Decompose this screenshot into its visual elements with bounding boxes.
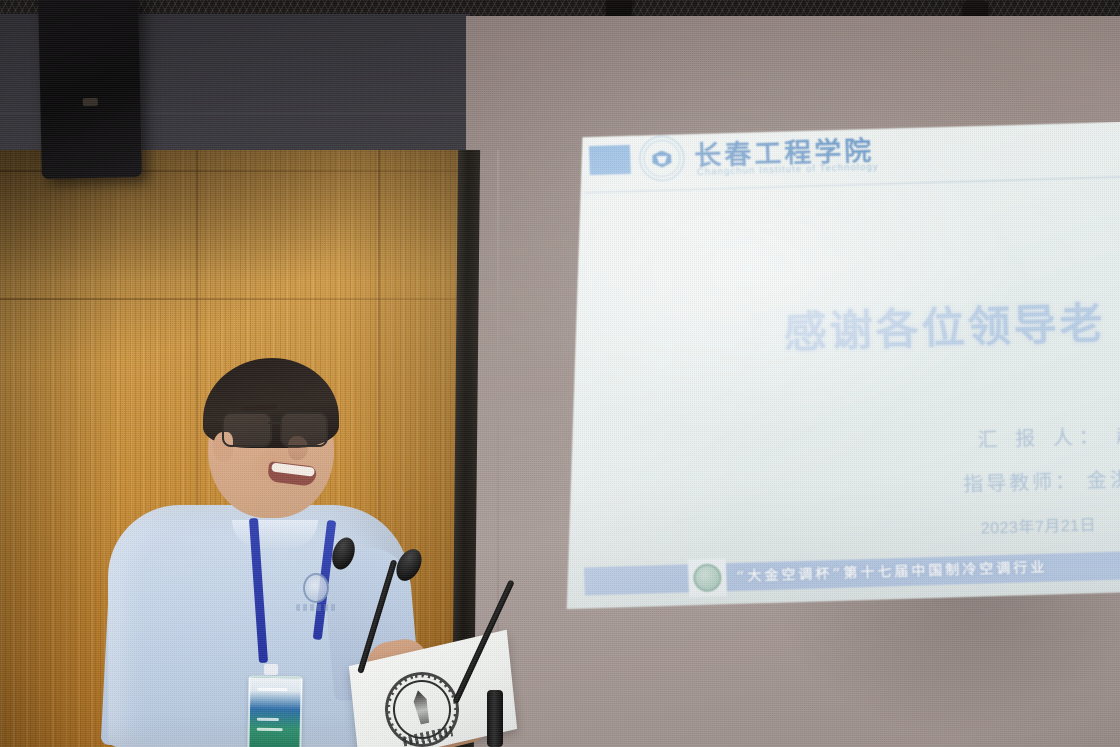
slide-advisor-line: 指导教师： 金洪文 bbox=[963, 462, 1120, 497]
wall-mounted-loudspeaker bbox=[38, 0, 142, 179]
presentation-slide: 长春工程学院 Changchun Institute of Technology… bbox=[560, 105, 1120, 611]
speaker-brand-badge bbox=[83, 98, 98, 106]
slide-presenter-line: 汇 报 人： 赵 悦 bbox=[977, 418, 1120, 453]
wood-seam bbox=[0, 298, 468, 300]
slide-date: 2023年7月21日 bbox=[980, 511, 1096, 538]
logo-ring bbox=[693, 563, 722, 592]
conference-emblem-icon bbox=[378, 665, 466, 747]
university-emblem-icon bbox=[639, 135, 686, 181]
microphone-base bbox=[487, 690, 503, 747]
projection-screen: 长春工程学院 Changchun Institute of Technology… bbox=[560, 122, 1120, 612]
wood-seam-vertical bbox=[378, 150, 380, 747]
wood-seam-vertical bbox=[196, 150, 198, 747]
competition-logo-icon bbox=[688, 558, 727, 597]
photo-scene: 长春工程学院 Changchun Institute of Technology… bbox=[0, 0, 1120, 747]
slide-accent-block bbox=[589, 145, 631, 175]
slide-main-title: 感谢各位领导老 bbox=[782, 289, 1106, 361]
